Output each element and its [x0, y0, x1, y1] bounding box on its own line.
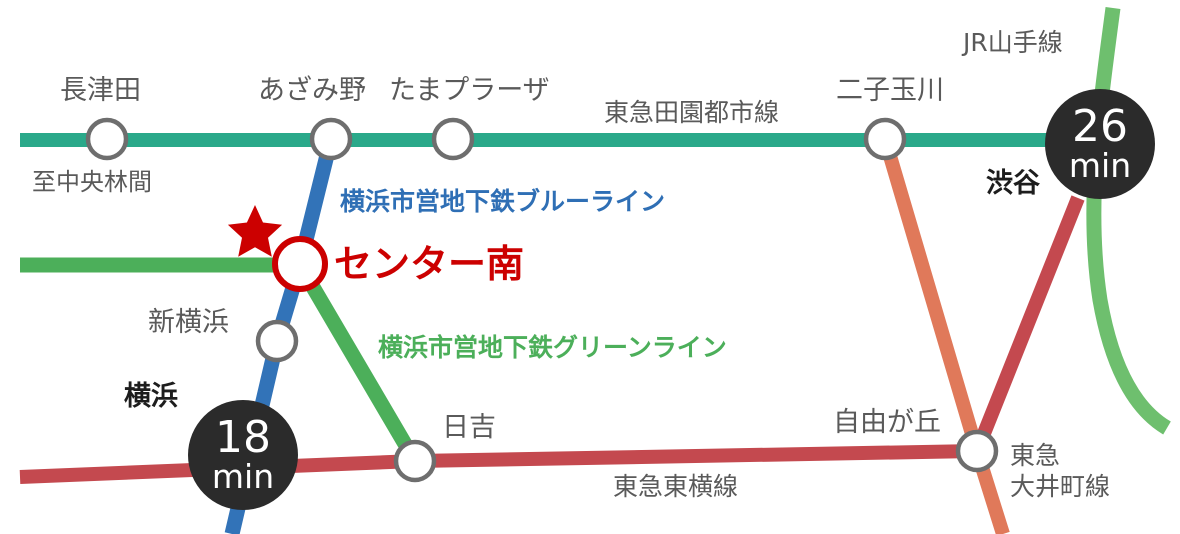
station-label-yokohama: 横浜 [124, 383, 178, 410]
line-label-tokyu-oimachi: 東急 大井町線 [1010, 441, 1110, 502]
station-label-shibuya: 渋谷 [986, 170, 1040, 197]
line-label-tokyu-denentoshi: 東急田園都市線 [604, 100, 779, 125]
station-marker-center-minami[interactable] [275, 239, 325, 289]
rail-line-jr-yamanote [1094, 8, 1167, 428]
time-badge-shibuya[interactable]: 26 min [1045, 89, 1155, 199]
line-label-tokyu-toyoko: 東急東横線 [613, 474, 738, 499]
station-marker-jiyugaoka[interactable] [958, 432, 996, 470]
line-label-yokohama-blue: 横浜市営地下鉄ブルーライン [340, 189, 665, 214]
station-marker-nagatsuta[interactable] [88, 120, 126, 158]
station-marker-shin-yokohama[interactable] [258, 322, 296, 360]
railway-access-map: 長津田 あざみ野 たまプラーザ 二子玉川 新横浜 日吉 自由が丘 横浜 渋谷 至… [0, 0, 1180, 534]
station-label-hiyoshi: 日吉 [442, 414, 496, 441]
station-marker-azamino[interactable] [312, 120, 350, 158]
station-marker-futakotamagawa[interactable] [866, 120, 904, 158]
station-marker-tama-plaza[interactable] [434, 120, 472, 158]
line-label-yokohama-green: 横浜市営地下鉄グリーンライン [378, 335, 727, 360]
time-badge-yokohama[interactable]: 18 min [188, 400, 298, 510]
line-label-jr-yamanote: JR山手線 [963, 30, 1063, 55]
time-badge-shibuya-number: 26 [1072, 106, 1128, 148]
time-badge-yokohama-number: 18 [215, 417, 271, 459]
map-canvas [0, 0, 1180, 534]
station-label-futakotamagawa: 二子玉川 [836, 77, 944, 104]
station-label-tama-plaza: たまプラーザ [389, 77, 550, 104]
direction-note-to-chuo-rinkan: 至中央林間 [32, 170, 152, 194]
station-label-azamino: あざみ野 [258, 77, 366, 104]
highlight-station-label-center-minami: センター南 [334, 245, 524, 283]
station-label-shin-yokohama: 新横浜 [148, 309, 229, 336]
time-badge-yokohama-unit: min [212, 460, 274, 493]
star-marker-icon [228, 205, 282, 257]
time-badge-shibuya-unit: min [1069, 149, 1131, 182]
station-label-jiyugaoka: 自由が丘 [833, 409, 941, 436]
station-label-nagatsuta: 長津田 [60, 77, 141, 104]
station-marker-hiyoshi[interactable] [396, 442, 434, 480]
